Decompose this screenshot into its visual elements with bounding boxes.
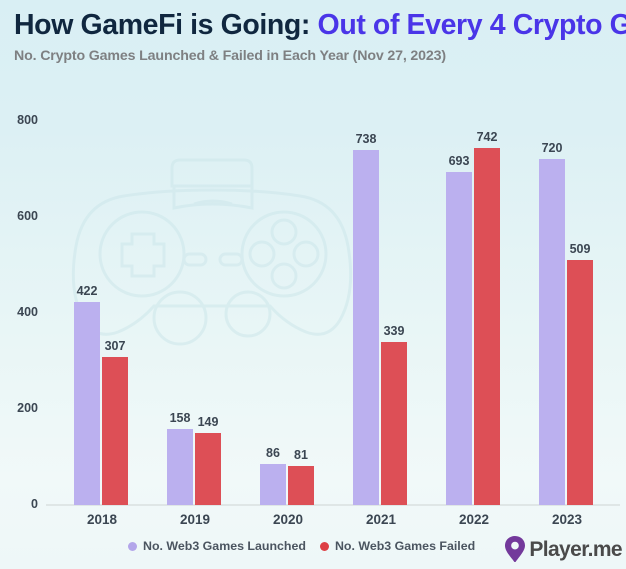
page-subtitle: No. Crypto Games Launched & Failed in Ea… xyxy=(14,48,616,64)
chart-plot-area: 800 600 400 200 0 422 307 2018 158 xyxy=(0,120,626,530)
bar-failed-2018[interactable]: 307 xyxy=(102,357,128,505)
chart-footer: No. Web3 Games Launched No. Web3 Games F… xyxy=(0,535,626,565)
x-tick-2022: 2022 xyxy=(444,512,504,527)
legend-item-failed[interactable]: No. Web3 Games Failed xyxy=(320,539,475,553)
x-tick-2018: 2018 xyxy=(72,512,132,527)
player-me-pin-icon xyxy=(503,535,527,563)
legend-dot-launched-icon xyxy=(128,542,137,551)
bar-launched-2021[interactable]: 738 xyxy=(353,150,379,505)
bar-group-2020: 86 81 2020 xyxy=(258,120,318,505)
title-segment-accent: Out of Every 4 Crypto Games, 3 Have Fail… xyxy=(318,9,626,41)
bar-launched-2020[interactable]: 86 xyxy=(260,464,286,505)
bar-value-failed-2019: 149 xyxy=(198,415,219,429)
title-segment-primary: How GameFi is Going: xyxy=(14,9,318,41)
bar-failed-2021[interactable]: 339 xyxy=(381,342,407,505)
bar-value-failed-2021: 339 xyxy=(384,324,405,338)
bar-failed-2020[interactable]: 81 xyxy=(288,466,314,505)
bar-value-failed-2022: 742 xyxy=(477,130,498,144)
y-tick-200: 200 xyxy=(17,401,38,415)
header: How GameFi is Going: Out of Every 4 Cryp… xyxy=(14,8,616,64)
x-tick-2020: 2020 xyxy=(258,512,318,527)
bar-launched-2018[interactable]: 422 xyxy=(74,302,100,505)
y-tick-400: 400 xyxy=(17,305,38,319)
bar-value-launched-2019: 158 xyxy=(170,411,191,425)
bar-group-2018: 422 307 2018 xyxy=(72,120,132,505)
bar-failed-2023[interactable]: 509 xyxy=(567,260,593,505)
bar-value-launched-2021: 738 xyxy=(356,132,377,146)
brand-logo[interactable]: Player.me xyxy=(503,535,622,563)
bar-value-launched-2018: 422 xyxy=(77,284,98,298)
bar-launched-2022[interactable]: 693 xyxy=(446,172,472,506)
x-tick-2019: 2019 xyxy=(165,512,225,527)
page-title: How GameFi is Going: Out of Every 4 Cryp… xyxy=(14,8,616,43)
y-axis: 800 600 400 200 0 xyxy=(0,120,46,505)
y-tick-800: 800 xyxy=(17,113,38,127)
bar-group-2021: 738 339 2021 xyxy=(351,120,411,505)
infographic-card: How GameFi is Going: Out of Every 4 Cryp… xyxy=(0,0,626,569)
y-tick-600: 600 xyxy=(17,209,38,223)
chart-legend: No. Web3 Games Launched No. Web3 Games F… xyxy=(128,539,475,553)
bar-value-launched-2023: 720 xyxy=(542,141,563,155)
bar-value-launched-2020: 86 xyxy=(266,446,280,460)
bar-launched-2019[interactable]: 158 xyxy=(167,429,193,505)
bar-group-2022: 693 742 2022 xyxy=(444,120,504,505)
bar-failed-2022[interactable]: 742 xyxy=(474,148,500,505)
bar-value-failed-2020: 81 xyxy=(294,448,308,462)
x-tick-2021: 2021 xyxy=(351,512,411,527)
bar-failed-2019[interactable]: 149 xyxy=(195,433,221,505)
bar-value-failed-2018: 307 xyxy=(105,339,126,353)
brand-name: Player.me xyxy=(529,539,622,560)
legend-label-launched: No. Web3 Games Launched xyxy=(143,539,306,553)
y-tick-0: 0 xyxy=(31,497,38,511)
legend-dot-failed-icon xyxy=(320,542,329,551)
bar-group-2019: 158 149 2019 xyxy=(165,120,225,505)
bar-group-2023: 720 509 2023 xyxy=(537,120,597,505)
bar-launched-2023[interactable]: 720 xyxy=(539,159,565,506)
legend-label-failed: No. Web3 Games Failed xyxy=(335,539,475,553)
bars-container: 422 307 2018 158 149 2019 86 xyxy=(46,120,620,505)
x-tick-2023: 2023 xyxy=(537,512,597,527)
bar-value-launched-2022: 693 xyxy=(449,154,470,168)
bar-value-failed-2023: 509 xyxy=(570,242,591,256)
legend-item-launched[interactable]: No. Web3 Games Launched xyxy=(128,539,306,553)
